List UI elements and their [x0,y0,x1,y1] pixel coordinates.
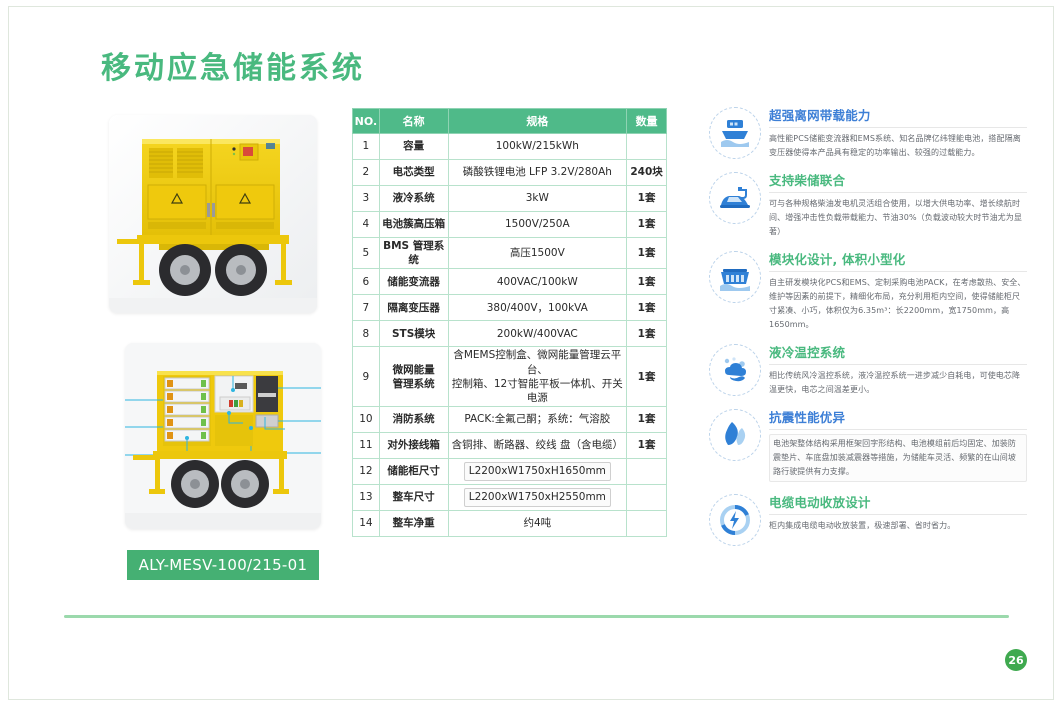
cell-spec: 含铜排、断路器、绞线 盘（含电缆） [448,433,627,459]
cell-qty: 1套 [627,321,667,347]
cell-name: 液冷系统 [379,186,448,212]
cable-reel-lightning-icon [709,494,761,546]
bottom-divider [64,615,1009,618]
table-row: 7隔离变压器380/400V，100kVA1套 [353,295,667,321]
cell-qty: 240块 [627,160,667,186]
feature-body: 模块化设计, 体积小型化 自主研发模块化PCS和EMS、定制采购电池PACK，在… [761,247,1027,332]
page-number-badge: 26 [1005,649,1027,671]
feature-title: 液冷温控系统 [769,342,1027,361]
cell-no: 3 [353,186,380,212]
table-row: 8STS模块200kW/400VAC1套 [353,321,667,347]
mobile-energy-storage-exterior-photo [109,115,317,313]
cell-qty: 1套 [627,407,667,433]
table-row: 2电芯类型磷酸铁锂电池 LFP 3.2V/280Ah240块 [353,160,667,186]
table-row: 9微网能量管理系统含MEMS控制盒、微网能量管理云平台、控制箱、12寸智能平板一… [353,347,667,407]
feature-title: 超强离网带载能力 [769,105,1027,124]
table-row: 4电池簇高压箱1500V/250A1套 [353,212,667,238]
cell-no: 2 [353,160,380,186]
feature-body: 支持柴储联合 可与各种规格柴油发电机灵活组合使用，以增大供电功率、增长续航时间、… [761,168,1027,239]
col-header-spec: 规格 [448,109,627,134]
col-header-no: NO. [353,109,380,134]
cell-no: 4 [353,212,380,238]
cell-name: BMS 管理系统 [379,238,448,269]
feature-item: 抗震性能优异 电池架整体结构采用框架回字形结构、电池模组前后均固定、加装防震垫片… [709,405,1027,482]
feature-item: 支持柴储联合 可与各种规格柴油发电机灵活组合使用，以增大供电功率、增长续航时间、… [709,168,1027,239]
cell-spec: 约4吨 [448,511,627,537]
feature-title: 模块化设计, 体积小型化 [769,249,1027,268]
cell-qty [627,459,667,485]
feature-text: 柜内集成电缆电动收放装置，极速部署、省时省力。 [769,519,1027,533]
cell-name: 电芯类型 [379,160,448,186]
feature-title: 电缆电动收放设计 [769,492,1027,511]
cell-spec: L2200xW1750xH2550mm [448,485,627,511]
boxed-value: L2200xW1750xH2550mm [464,488,611,506]
table-row: 11对外接线箱含铜排、断路器、绞线 盘（含电缆）1套 [353,433,667,459]
feature-title: 支持柴储联合 [769,170,1027,189]
feature-divider [769,364,1027,365]
cell-no: 5 [353,238,380,269]
table-row: 6储能变流器400VAC/100kW1套 [353,269,667,295]
boxed-value: L2200xW1750xH1650mm [464,462,611,480]
cell-qty [627,511,667,537]
shock-resistance-icon [709,409,761,461]
table-body: 1容量100kW/215kWh2电芯类型磷酸铁锂电池 LFP 3.2V/280A… [353,134,667,537]
cell-qty: 1套 [627,347,667,407]
slide-page: 移动应急储能系统 [8,6,1054,700]
module-rack-icon [709,251,761,303]
cell-no: 10 [353,407,380,433]
top-strip [9,7,1053,12]
cell-qty [627,134,667,160]
liquid-cooling-icon [709,344,761,396]
table-row: 13整车尺寸L2200xW1750xH2550mm [353,485,667,511]
feature-body: 抗震性能优异 电池架整体结构采用框架回字形结构、电池模组前后均固定、加装防震垫片… [761,405,1027,482]
feature-title: 抗震性能优异 [769,407,1027,426]
feature-divider [769,429,1027,430]
interior-illustration [125,343,321,529]
cell-qty: 1套 [627,295,667,321]
table-header-row: NO. 名称 规格 数量 [353,109,667,134]
cell-no: 7 [353,295,380,321]
feature-text: 可与各种规格柴油发电机灵活组合使用，以增大供电功率、增长续航时间、增强冲击性负载… [769,197,1027,239]
feature-body: 液冷温控系统 相比传统风冷温控系统，液冷温控系统一进步减少自耗电，可使电芯降温更… [761,340,1027,397]
cell-no: 13 [353,485,380,511]
feature-divider [769,514,1027,515]
table-row: 14整车净重约4吨 [353,511,667,537]
feature-text: 电池架整体结构采用框架回字形结构、电池模组前后均固定、加装防震垫片、车底盘加装减… [769,434,1027,482]
feature-divider [769,127,1027,128]
table-row: 1容量100kW/215kWh [353,134,667,160]
cell-no: 6 [353,269,380,295]
cell-name: STS模块 [379,321,448,347]
feature-text: 高性能PCS储能变流器和EMS系统、知名品牌亿纬锂能电池，搭配隔离变压器使得本产… [769,132,1027,160]
feature-item: 模块化设计, 体积小型化 自主研发模块化PCS和EMS、定制采购电池PACK，在… [709,247,1027,332]
cell-qty: 1套 [627,238,667,269]
col-header-qty: 数量 [627,109,667,134]
cell-qty: 1套 [627,269,667,295]
cell-name: 整车净重 [379,511,448,537]
table-row: 10消防系统PACK:全氟己酮；系统：气溶胶1套 [353,407,667,433]
cell-name: 储能柜尺寸 [379,459,448,485]
battery-tank-icon [709,107,761,159]
table-row: 5BMS 管理系统高压1500V1套 [353,238,667,269]
feature-item: 电缆电动收放设计 柜内集成电缆电动收放装置，极速部署、省时省力。 [709,490,1027,546]
cell-name: 储能变流器 [379,269,448,295]
cell-name: 对外接线箱 [379,433,448,459]
cell-no: 8 [353,321,380,347]
mobile-energy-storage-interior-photo [125,343,321,529]
cell-no: 14 [353,511,380,537]
cell-name: 电池簇高压箱 [379,212,448,238]
feature-text: 自主研发模块化PCS和EMS、定制采购电池PACK，在考虑散热、安全、维护等因素… [769,276,1027,332]
cell-name: 容量 [379,134,448,160]
feature-list: 超强离网带载能力 高性能PCS储能变流器和EMS系统、知名品牌亿纬锂能电池，搭配… [709,103,1027,554]
cell-qty: 1套 [627,212,667,238]
cell-spec: 3kW [448,186,627,212]
table-row: 12储能柜尺寸L2200xW1750xH1650mm [353,459,667,485]
cell-spec: L2200xW1750xH1650mm [448,459,627,485]
cell-no: 11 [353,433,380,459]
exterior-illustration [109,115,317,313]
cell-spec: PACK:全氟己酮；系统：气溶胶 [448,407,627,433]
feature-body: 超强离网带载能力 高性能PCS储能变流器和EMS系统、知名品牌亿纬锂能电池，搭配… [761,103,1027,160]
table-row: 3液冷系统3kW1套 [353,186,667,212]
cell-no: 1 [353,134,380,160]
col-header-name: 名称 [379,109,448,134]
cell-spec: 400VAC/100kW [448,269,627,295]
cell-name: 整车尺寸 [379,485,448,511]
cell-no: 12 [353,459,380,485]
cell-spec: 380/400V，100kVA [448,295,627,321]
feature-body: 电缆电动收放设计 柜内集成电缆电动收放装置，极速部署、省时省力。 [761,490,1027,546]
feature-text: 相比传统风冷温控系统，液冷温控系统一进步减少自耗电，可使电芯降温更快，电芯之间温… [769,369,1027,397]
cell-spec: 含MEMS控制盒、微网能量管理云平台、控制箱、12寸智能平板一体机、开关电源 [448,347,627,407]
specification-table: NO. 名称 规格 数量 1容量100kW/215kWh2电芯类型磷酸铁锂电池 … [352,108,667,537]
cell-name: 微网能量管理系统 [379,347,448,407]
feature-item: 超强离网带载能力 高性能PCS储能变流器和EMS系统、知名品牌亿纬锂能电池，搭配… [709,103,1027,160]
feature-divider [769,192,1027,193]
cell-spec: 100kW/215kWh [448,134,627,160]
cell-spec: 高压1500V [448,238,627,269]
cell-name: 隔离变压器 [379,295,448,321]
cell-name: 消防系统 [379,407,448,433]
ev-charging-car-icon [709,172,761,224]
cell-no: 9 [353,347,380,407]
feature-item: 液冷温控系统 相比传统风冷温控系统，液冷温控系统一进步减少自耗电，可使电芯降温更… [709,340,1027,397]
cell-spec: 1500V/250A [448,212,627,238]
cell-qty [627,485,667,511]
feature-divider [769,271,1027,272]
cell-qty: 1套 [627,186,667,212]
cell-spec: 200kW/400VAC [448,321,627,347]
page-title: 移动应急储能系统 [101,43,365,87]
cell-qty: 1套 [627,433,667,459]
model-number-badge: ALY-MESV-100/215-01 [127,550,319,580]
cell-spec: 磷酸铁锂电池 LFP 3.2V/280Ah [448,160,627,186]
